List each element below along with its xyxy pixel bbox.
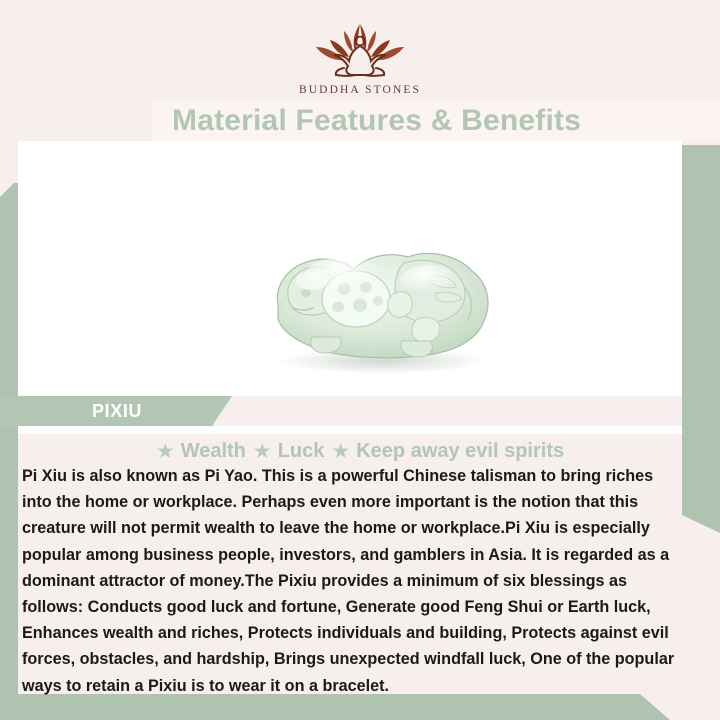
- page-title: Material Features & Benefits: [152, 104, 581, 138]
- star-icon: ★: [156, 441, 175, 462]
- title-band: Material Features & Benefits: [152, 100, 720, 141]
- lotus-meditation-icon: [300, 16, 420, 82]
- benefit-item-evil-spirits: ★ Keep away evil spirits: [331, 440, 564, 463]
- benefit-label: Keep away evil spirits: [356, 440, 564, 463]
- benefit-item-luck: ★ Luck: [253, 440, 325, 463]
- benefits-row: ★ Wealth ★ Luck ★ Keep away evil spirits: [0, 437, 720, 465]
- brand-logo: BUDDHA STONES: [0, 16, 720, 96]
- benefit-label: Wealth: [181, 440, 246, 463]
- star-icon: ★: [331, 441, 350, 462]
- decor-right-green-bar: [682, 145, 720, 533]
- description-paragraph: Pi Xiu is also known as Pi Yao. This is …: [22, 463, 684, 699]
- star-icon: ★: [253, 441, 272, 462]
- banner-white-strip: [18, 426, 682, 434]
- brand-name: BUDDHA STONES: [299, 84, 421, 96]
- product-name-banner: PIXIU: [0, 396, 232, 426]
- benefit-label: Luck: [278, 440, 325, 463]
- product-name-label: PIXIU: [0, 401, 142, 422]
- benefit-item-wealth: ★ Wealth: [156, 440, 246, 463]
- jade-pixiu-image: [252, 233, 514, 376]
